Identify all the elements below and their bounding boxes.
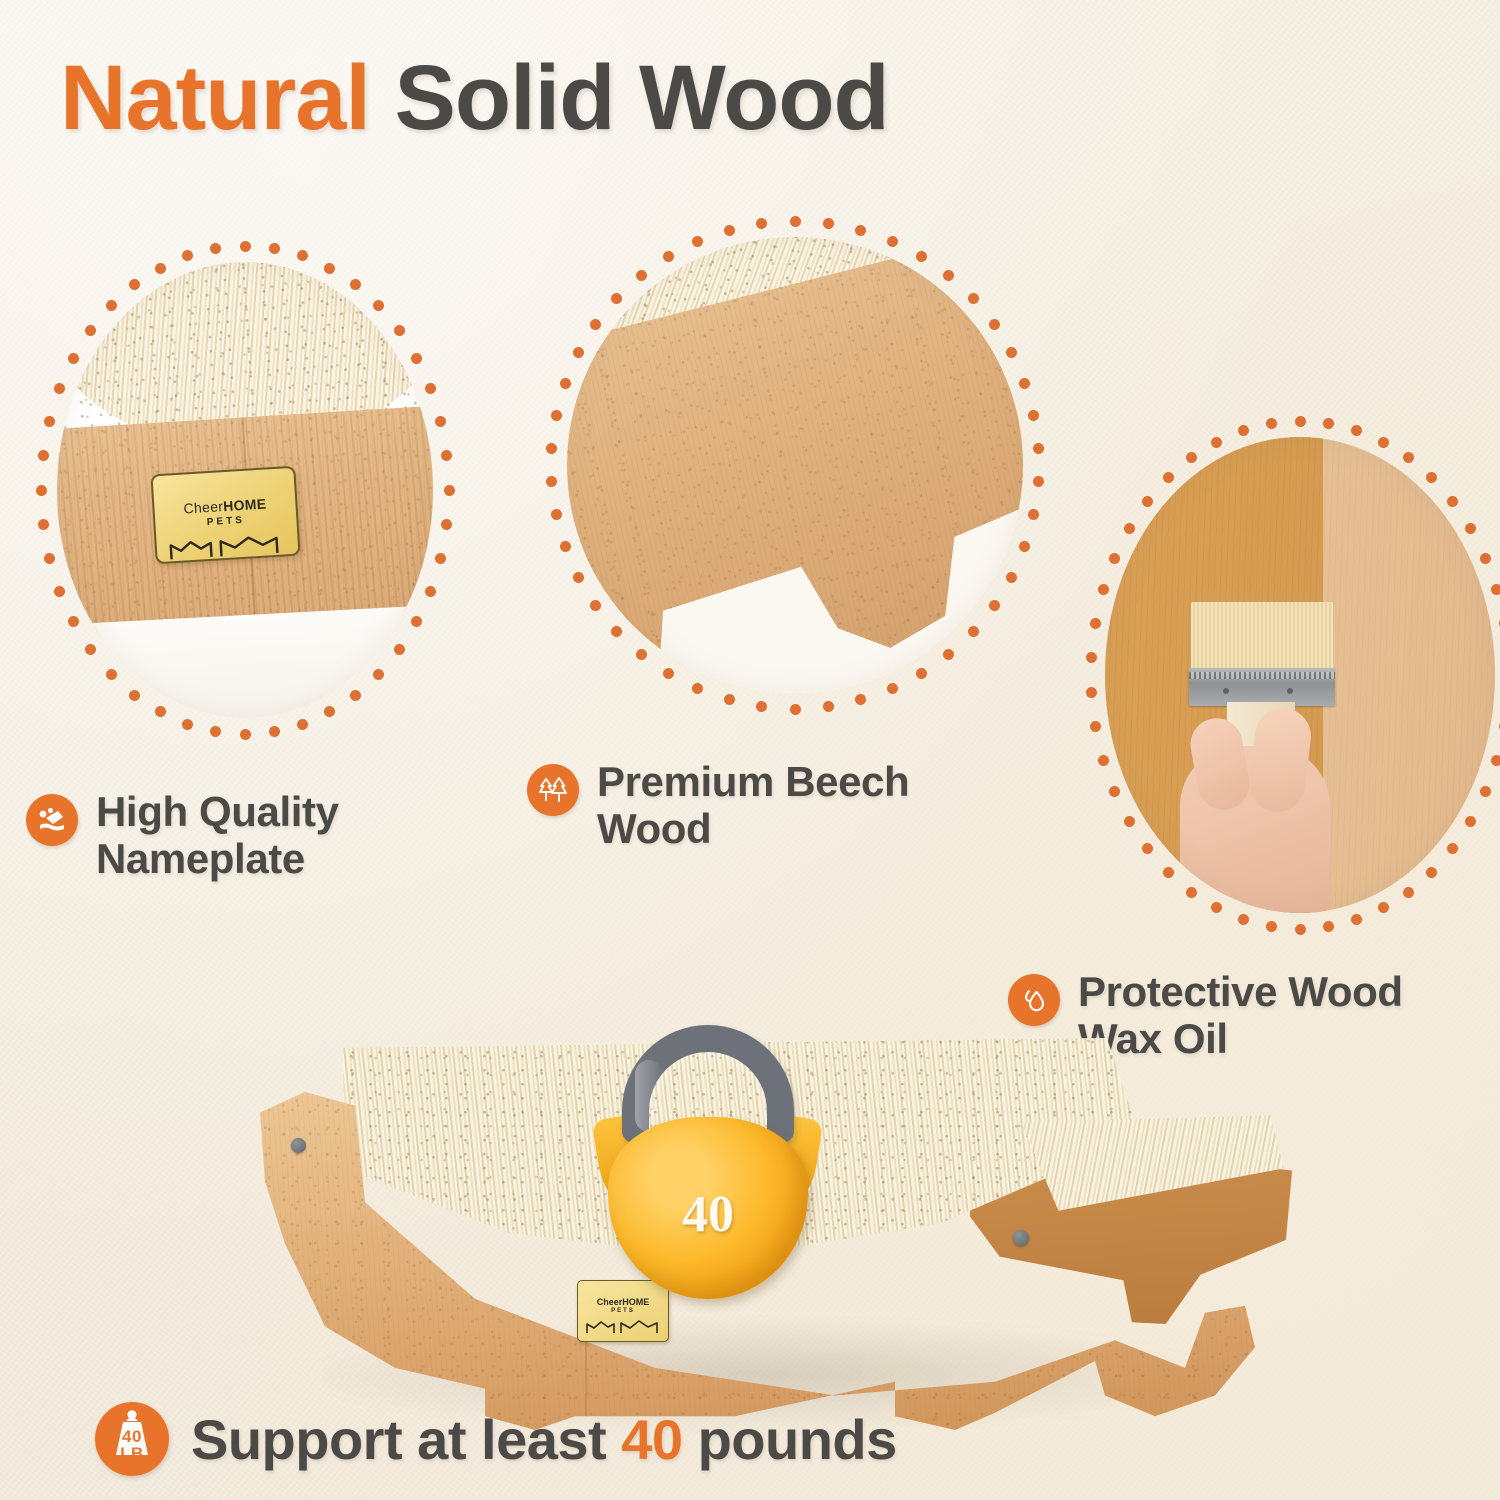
feature-3-line1: Protective Wood [1078,968,1403,1015]
caption-highlight: 40 [621,1408,682,1471]
feature-high-quality-nameplate: High Quality Nameplate [26,788,466,882]
product-nameplate-sub: PETS [578,1308,668,1314]
feature-label-1: High Quality Nameplate [96,788,339,882]
weight-40lb-icon: 40 LB [95,1402,169,1476]
feature-premium-beech-wood: Premium Beech Wood [527,758,997,852]
caption-before: Support at least [191,1408,621,1471]
circle-nameplate-detail: CheerHOME PETS [35,240,455,740]
quality-badge-icon [26,794,78,846]
feature-1-line1: High Quality [96,788,339,835]
kettlebell-weight-label: 40 [608,1185,808,1244]
feature-label-2: Premium Beech Wood [597,758,909,852]
feature-1-line2: Nameplate [96,835,305,882]
circle-wax-oil-detail [1085,415,1500,935]
title-orange-part: Natural [60,47,395,149]
caption-after: pounds [683,1408,897,1471]
dotted-ring-2 [545,215,1045,715]
screw-left [291,1138,306,1153]
feature-2-line1: Premium Beech [597,758,909,805]
kettlebell-40lb: 40 [600,1025,815,1300]
circle-beech-wood-detail [545,215,1045,715]
oil-droplet-icon [1008,974,1060,1026]
feature-2-line2: Wood [597,805,711,852]
support-weight-caption: 40 LB Support at least 40 pounds [95,1402,897,1476]
trees-icon [527,764,579,816]
product-photo-cat-scratcher-lounge: CheerHOME PETS 40 [255,1030,1265,1430]
page-title: Natural Solid Wood [60,52,889,144]
dotted-ring-1 [35,240,455,740]
support-weight-text: Support at least 40 pounds [191,1407,897,1472]
screw-right [1013,1230,1029,1246]
dotted-ring-3 [1085,415,1500,935]
title-dark-part: Solid Wood [395,47,889,149]
weight-icon-unit: LB [95,1444,169,1464]
